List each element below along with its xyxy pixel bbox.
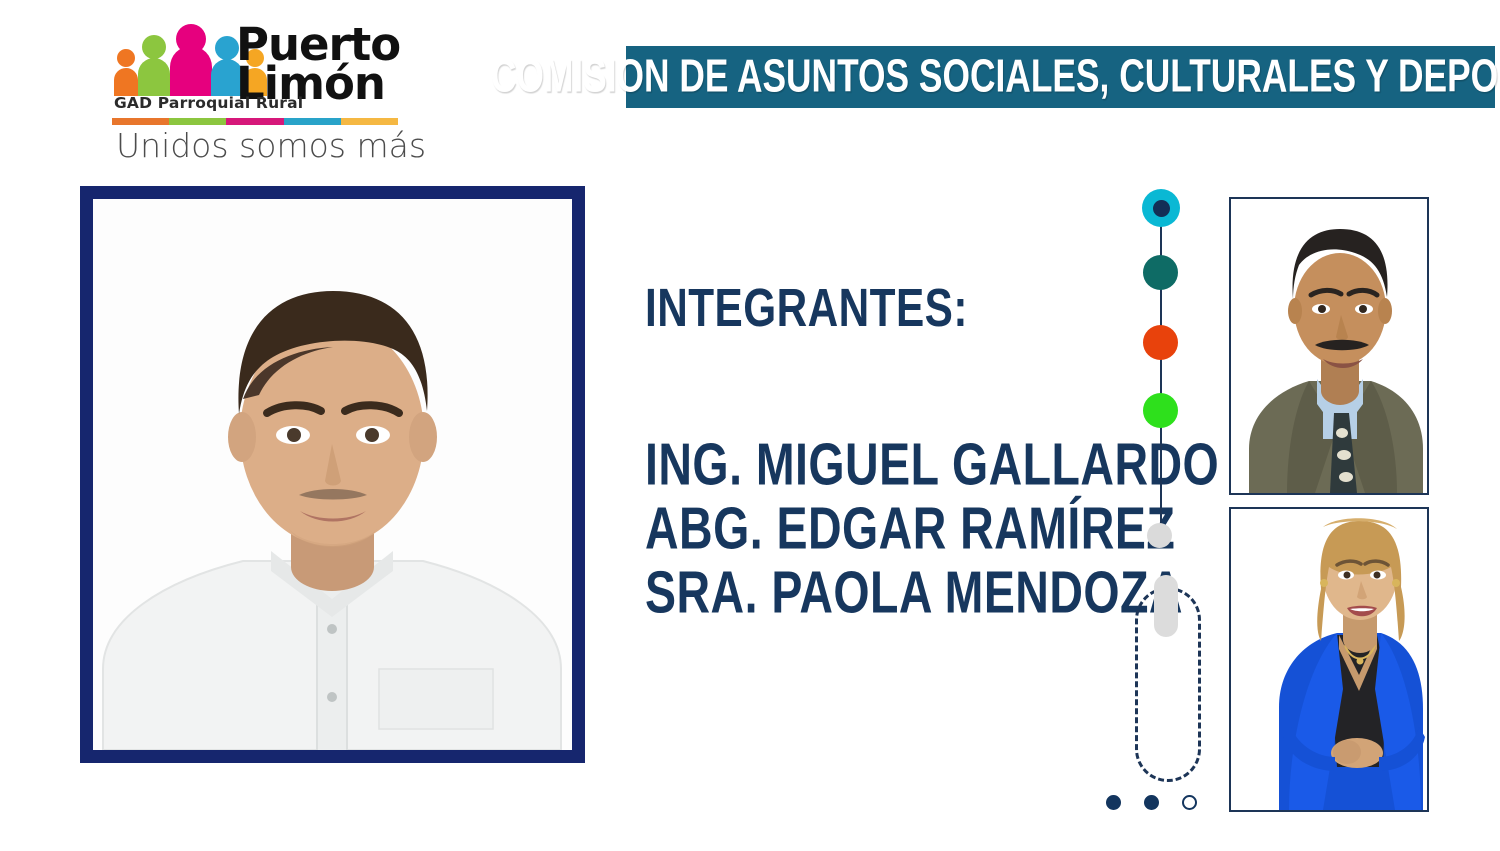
slide-root: Puerto Limón GAD Parroquial Rural Unidos… (0, 0, 1500, 851)
thumbnail-portrait-2 (1229, 507, 1429, 812)
member-item-2: ABG. EDGAR RAMÍREZ (645, 499, 1129, 558)
integrantes-heading: INTEGRANTES: (645, 276, 1123, 339)
thumbnail-portrait-1 (1229, 197, 1429, 495)
pagination-dot-1[interactable] (1106, 795, 1121, 810)
timeline-dot-cyan-icon (1142, 189, 1180, 227)
logo-tagline: Unidos somos más (116, 126, 426, 165)
member-item-1: ING. MIGUEL GALLARDO (645, 435, 1129, 494)
pagination-dot-2[interactable] (1144, 795, 1159, 810)
pagination-dot-3[interactable] (1182, 795, 1197, 810)
members-list: ING. MIGUEL GALLARDO ABG. EDGAR RAMÍREZ … (645, 435, 1165, 627)
timeline-dot-cyan-core (1153, 200, 1170, 217)
page-title: COMISION DE ASUNTOS SOCIALES, CULTURALES… (491, 51, 1500, 103)
main-portrait-photo (93, 199, 572, 750)
timeline-dot-orange-icon (1143, 325, 1178, 360)
logo-bar-segment-yellow (341, 118, 398, 125)
gray-pill-handle (1154, 575, 1178, 637)
logo-wordmark: Puerto Limón (236, 26, 411, 103)
logo-bar-segment-magenta (226, 118, 283, 125)
title-banner: COMISION DE ASUNTOS SOCIALES, CULTURALES… (626, 46, 1495, 108)
timeline-dot-green-icon (1143, 393, 1178, 428)
integrantes-heading-wrap: INTEGRANTES: (645, 276, 1165, 330)
slide-pagination-dots[interactable] (1106, 795, 1197, 810)
timeline-dot-gray-icon (1147, 523, 1172, 548)
timeline-dot-teal-icon (1143, 255, 1178, 290)
logo-bar-segment-green (169, 118, 226, 125)
main-portrait-frame (80, 186, 585, 763)
puerto-limon-logo: Puerto Limón GAD Parroquial Rural Unidos… (108, 22, 408, 167)
logo-color-bar (112, 118, 398, 125)
logo-bar-segment-orange (112, 118, 169, 125)
logo-bar-segment-blue (284, 118, 341, 125)
logo-subtitle: GAD Parroquial Rural (114, 94, 303, 112)
member-item-3: SRA. PAOLA MENDOZA (645, 563, 1129, 622)
